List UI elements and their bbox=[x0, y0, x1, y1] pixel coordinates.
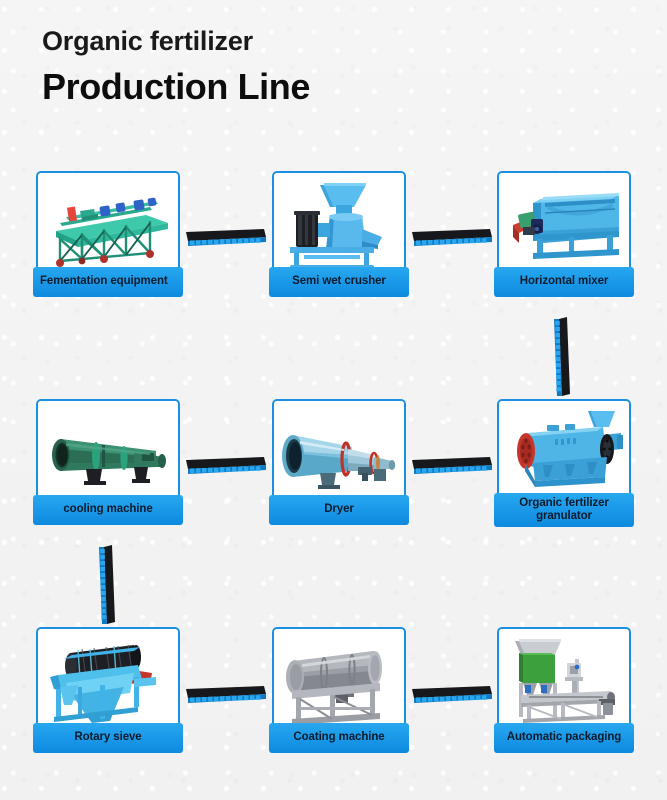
card-label-horizontal-mixer: Horizontal mixer bbox=[494, 267, 634, 297]
card-label-rotary-sieve: Rotary sieve bbox=[33, 723, 183, 753]
card-label-text: Rotary sieve bbox=[74, 731, 141, 744]
dryer-image bbox=[274, 401, 404, 505]
card-label-text: Dryer bbox=[324, 503, 354, 516]
automatic-packaging-image bbox=[499, 629, 629, 733]
card-label-semi-wet-crusher: Semi wet crusher bbox=[269, 267, 409, 297]
card-image-frame bbox=[497, 399, 631, 507]
card-label-text: cooling machine bbox=[63, 503, 152, 516]
card-image-frame bbox=[272, 399, 406, 507]
card-label-fermentation-equipment: Fementation equipment bbox=[33, 267, 183, 297]
step-card-cooling-machine[interactable]: cooling machine bbox=[36, 399, 180, 531]
card-label-dryer: Dryer bbox=[269, 495, 409, 525]
horizontal-mixer-image bbox=[499, 173, 629, 277]
cooling-machine-image bbox=[38, 401, 178, 505]
card-label-text: Automatic packaging bbox=[507, 731, 621, 744]
page-title-line-1: Organic fertilizer bbox=[42, 26, 310, 57]
page-title-line-2: Production Line bbox=[42, 64, 310, 109]
card-image-frame bbox=[36, 399, 180, 507]
card-label-text: Horizontal mixer bbox=[520, 275, 609, 288]
card-image-frame bbox=[497, 171, 631, 279]
step-card-horizontal-mixer[interactable]: Horizontal mixer bbox=[497, 171, 631, 303]
step-card-automatic-packaging[interactable]: Automatic packaging bbox=[497, 627, 631, 759]
organic-fertilizer-granulator-image bbox=[499, 401, 629, 505]
rotary-sieve-image bbox=[38, 629, 178, 733]
conveyor-7-to-8 bbox=[184, 685, 268, 705]
step-card-fermentation-equipment[interactable]: Fementation equipment bbox=[36, 171, 180, 303]
card-image-frame bbox=[272, 627, 406, 735]
coating-machine-image bbox=[274, 629, 404, 733]
card-label-text: Organic fertilizergranulator bbox=[519, 497, 609, 523]
card-label-text-line-2: granulator bbox=[536, 510, 592, 522]
step-card-coating-machine[interactable]: Coating machine bbox=[272, 627, 406, 759]
card-label-organic-fertilizer-granulator: Organic fertilizergranulator bbox=[494, 493, 634, 527]
card-label-coating-machine: Coating machine bbox=[269, 723, 409, 753]
conveyor-5-to-4 bbox=[184, 456, 268, 476]
conveyor-4-to-7 bbox=[97, 543, 117, 625]
card-label-automatic-packaging: Automatic packaging bbox=[494, 723, 634, 753]
card-image-frame bbox=[497, 627, 631, 735]
card-label-text-line-1: Organic fertilizer bbox=[519, 497, 609, 509]
conveyor-3-to-6 bbox=[552, 315, 572, 397]
card-image-frame bbox=[272, 171, 406, 279]
card-image-frame bbox=[36, 627, 180, 735]
card-label-text: Semi wet crusher bbox=[292, 275, 386, 288]
step-card-rotary-sieve[interactable]: Rotary sieve bbox=[36, 627, 180, 759]
conveyor-2-to-3 bbox=[410, 228, 494, 248]
conveyor-8-to-9 bbox=[410, 685, 494, 705]
card-label-cooling-machine: cooling machine bbox=[33, 495, 183, 525]
conveyor-1-to-2 bbox=[184, 228, 268, 248]
step-card-dryer[interactable]: Dryer bbox=[272, 399, 406, 531]
card-label-text: Coating machine bbox=[293, 731, 384, 744]
card-label-text: Fementation equipment bbox=[40, 275, 168, 288]
step-card-organic-fertilizer-granulator[interactable]: Organic fertilizergranulator bbox=[497, 399, 631, 535]
fermentation-equipment-image bbox=[38, 173, 178, 277]
semi-wet-crusher-image bbox=[274, 173, 404, 277]
conveyor-6-to-5 bbox=[410, 456, 494, 476]
step-card-semi-wet-crusher[interactable]: Semi wet crusher bbox=[272, 171, 406, 303]
card-image-frame bbox=[36, 171, 180, 279]
page-title: Organic fertilizer Production Line bbox=[42, 26, 310, 109]
